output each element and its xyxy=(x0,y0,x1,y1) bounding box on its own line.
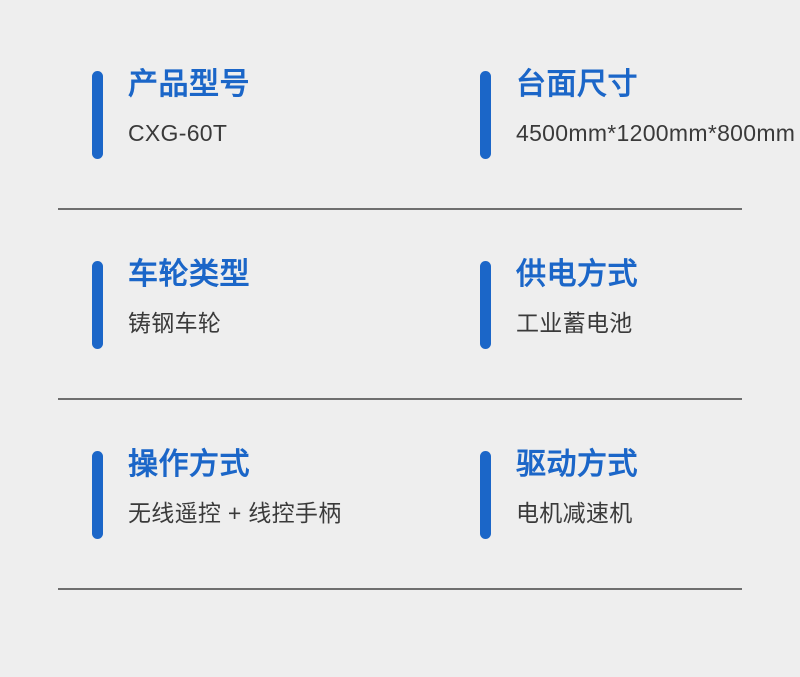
spec-value: 铸钢车轮 xyxy=(128,312,250,335)
spec-label: 操作方式 xyxy=(128,450,342,480)
spec-row: 车轮类型 铸钢车轮 供电方式 工业蓄电池 xyxy=(0,208,800,398)
spec-value: 电机减速机 xyxy=(516,502,638,525)
spec-text-block: 操作方式 无线遥控 + 线控手柄 xyxy=(128,450,342,525)
spec-label: 供电方式 xyxy=(516,260,638,290)
accent-bar-icon xyxy=(92,71,103,159)
spec-row: 产品型号 CXG-60T 台面尺寸 4500mm*1200mm*800mm xyxy=(0,18,800,208)
spec-item-drive-mode: 驱动方式 电机减速机 xyxy=(480,450,638,539)
spec-text-block: 驱动方式 电机减速机 xyxy=(516,450,638,525)
accent-bar-icon xyxy=(92,451,103,539)
accent-bar-icon xyxy=(92,261,103,349)
spec-value: 无线遥控 + 线控手柄 xyxy=(128,502,342,525)
accent-bar-icon xyxy=(480,261,491,349)
spec-label: 台面尺寸 xyxy=(516,70,795,100)
spec-text-block: 车轮类型 铸钢车轮 xyxy=(128,260,250,335)
spec-text-block: 供电方式 工业蓄电池 xyxy=(516,260,638,335)
spec-item-wheel-type: 车轮类型 铸钢车轮 xyxy=(92,260,250,349)
spec-label: 驱动方式 xyxy=(516,450,638,480)
spec-item-product-model: 产品型号 CXG-60T xyxy=(92,70,250,159)
accent-bar-icon xyxy=(480,71,491,159)
row-divider xyxy=(58,588,742,590)
spec-text-block: 台面尺寸 4500mm*1200mm*800mm xyxy=(516,70,795,145)
spec-item-operation-mode: 操作方式 无线遥控 + 线控手柄 xyxy=(92,450,342,539)
specification-sheet: 产品型号 CXG-60T 台面尺寸 4500mm*1200mm*800mm 车轮… xyxy=(0,0,800,677)
spec-item-power-supply: 供电方式 工业蓄电池 xyxy=(480,260,638,349)
spec-text-block: 产品型号 CXG-60T xyxy=(128,70,250,145)
spec-value: CXG-60T xyxy=(128,122,250,145)
spec-label: 产品型号 xyxy=(128,70,250,100)
spec-label: 车轮类型 xyxy=(128,260,250,290)
spec-value: 工业蓄电池 xyxy=(516,312,638,335)
spec-value: 4500mm*1200mm*800mm xyxy=(516,122,795,145)
spec-row: 操作方式 无线遥控 + 线控手柄 驱动方式 电机减速机 xyxy=(0,398,800,588)
accent-bar-icon xyxy=(480,451,491,539)
spec-item-table-size: 台面尺寸 4500mm*1200mm*800mm xyxy=(480,70,795,159)
